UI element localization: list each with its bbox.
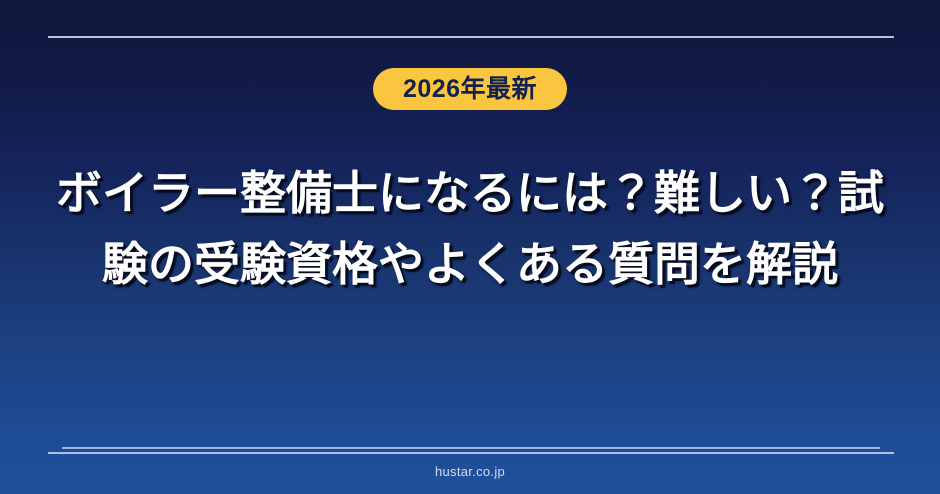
thumbnail-card: 2026年最新 ボイラー整備士になるには？難しい？試験の受験資格やよくある質問を… bbox=[0, 0, 940, 494]
site-domain-label: hustar.co.jp bbox=[435, 464, 505, 479]
title-container: ボイラー整備士になるには？難しい？試験の受験資格やよくある質問を解説 bbox=[56, 158, 884, 300]
year-badge: 2026年最新 bbox=[373, 68, 567, 110]
badge-container: 2026年最新 bbox=[0, 68, 940, 110]
bottom-divider-line-upper bbox=[62, 447, 880, 449]
bottom-divider-line-lower bbox=[48, 452, 894, 454]
top-divider-line bbox=[48, 36, 894, 38]
footer-container: hustar.co.jp bbox=[0, 463, 940, 481]
page-title: ボイラー整備士になるには？難しい？試験の受験資格やよくある質問を解説 bbox=[56, 158, 884, 300]
